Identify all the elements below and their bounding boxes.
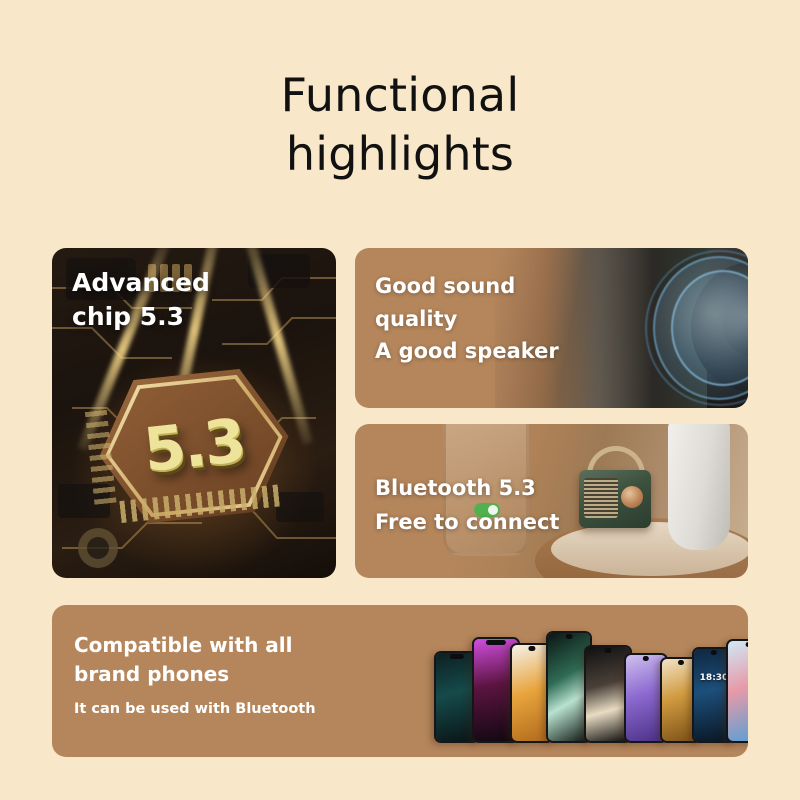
compatibility-line-1: Compatible with all	[74, 631, 316, 660]
sound-quality-line-2: quality	[375, 303, 559, 336]
feature-card-advanced-chip[interactable]: 5.3 Advanced chip 5.3	[52, 248, 336, 578]
page-title-line-1: Functional	[0, 66, 800, 125]
white-cylinder-object	[668, 424, 730, 550]
compatibility-subtext: It can be used with Bluetooth	[74, 701, 316, 717]
phone-lockscreen-time: 18:30	[700, 673, 729, 683]
sound-quality-line-3: A good speaker	[375, 335, 559, 368]
promo-page: Functional highlights	[0, 0, 800, 800]
smartphone-lineup: 18:30	[434, 619, 734, 743]
bluetooth-caption: Bluetooth 5.3 Free to connect	[375, 472, 559, 539]
page-title-line-2: highlights	[0, 125, 800, 184]
bluetooth-line-1: Bluetooth 5.3	[375, 472, 559, 506]
phone-9	[726, 639, 748, 743]
feature-card-bluetooth[interactable]: Bluetooth 5.3 Free to connect	[355, 424, 748, 578]
feature-card-sound-quality[interactable]: 30 40 50 60 70 80 90 100 ⏮	[355, 248, 748, 408]
advanced-chip-line-1: Advanced	[72, 266, 210, 300]
page-title: Functional highlights	[0, 66, 800, 184]
bluetooth-line-2: Free to connect	[375, 506, 559, 540]
speaker-grille	[584, 478, 618, 518]
sound-quality-line-1: Good sound	[375, 270, 559, 303]
advanced-chip-caption: Advanced chip 5.3	[72, 266, 210, 334]
feature-card-compatibility[interactable]: Compatible with all brand phones It can …	[52, 605, 748, 757]
speaker-tuning-dial	[621, 486, 643, 508]
chip-badge-graphic: 5.3	[92, 361, 297, 530]
compatibility-line-2: brand phones	[74, 660, 316, 689]
compatibility-caption: Compatible with all brand phones It can …	[74, 631, 316, 717]
retro-speaker-unit	[579, 470, 651, 528]
advanced-chip-line-2: chip 5.3	[72, 300, 210, 334]
sound-quality-caption: Good sound quality A good speaker	[375, 270, 559, 368]
